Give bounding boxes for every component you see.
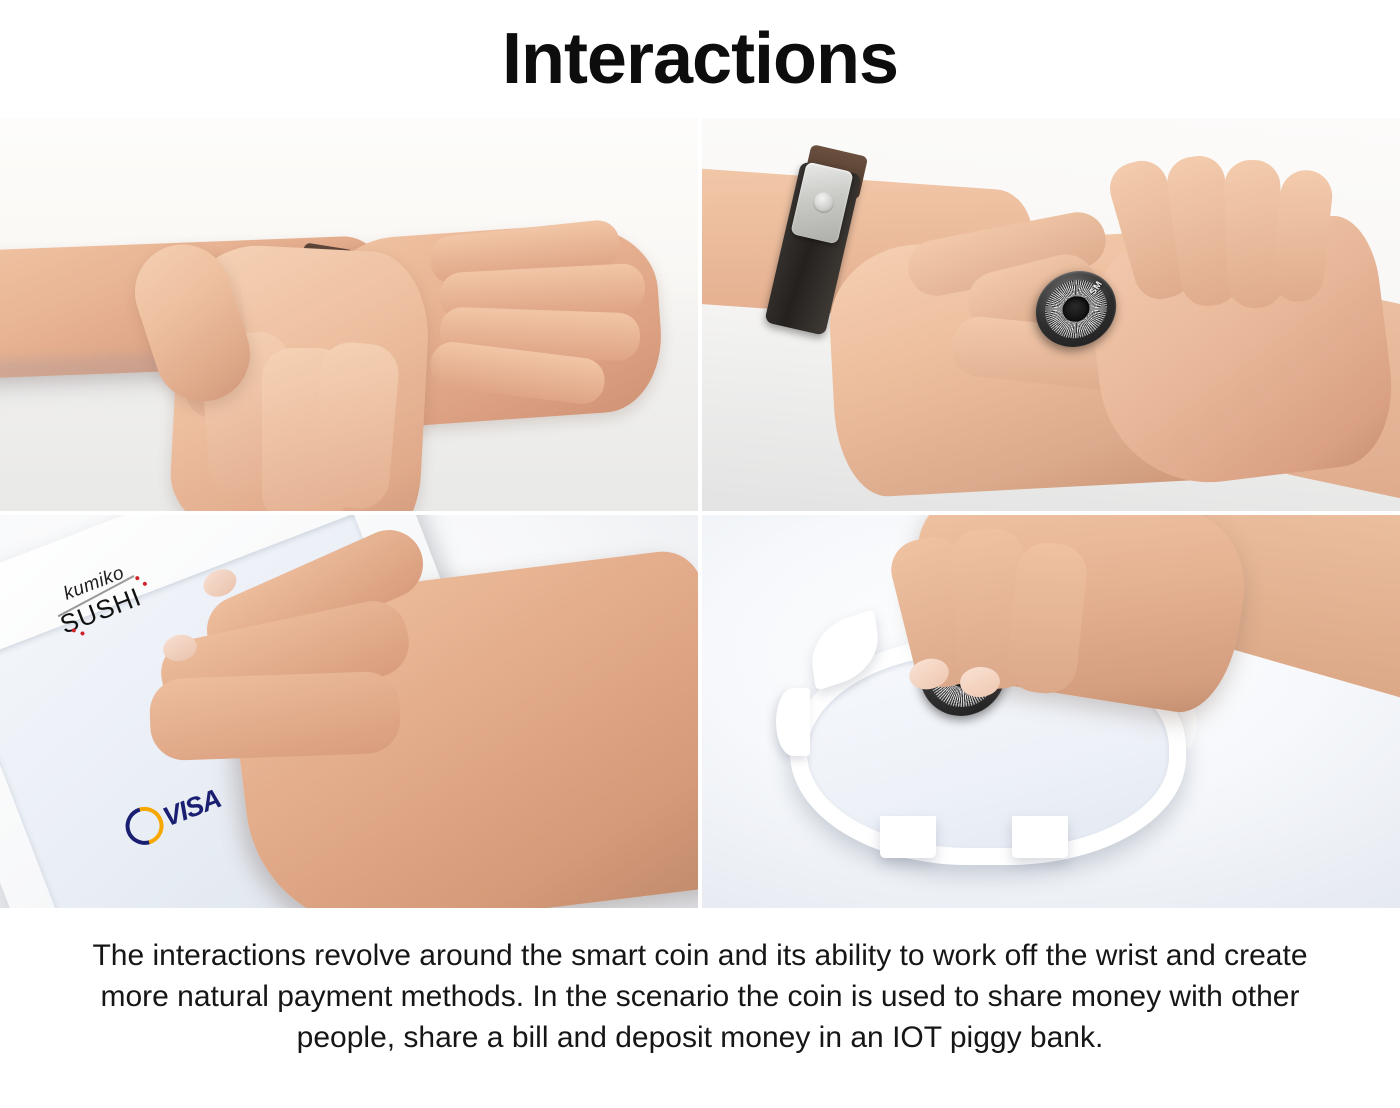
page-title: Interactions	[502, 18, 898, 100]
caption-block: The interactions revolve around the smar…	[0, 908, 1400, 1108]
photo-hand-over[interactable]: SM	[702, 118, 1400, 511]
photo-piggy-bank[interactable]	[702, 515, 1400, 908]
piggy-leg	[1012, 816, 1068, 858]
photo-grid: 10 SM	[0, 118, 1400, 908]
page-header: Interactions	[0, 0, 1400, 118]
piggy-leg	[880, 816, 936, 858]
finger	[149, 671, 402, 762]
photo-restaurant-bill[interactable]: kumiko SUSHI SM SM VISA	[0, 515, 698, 908]
photo-wrist-removal[interactable]: 10	[0, 118, 698, 511]
piggy-snout	[776, 688, 810, 756]
finger	[309, 340, 401, 511]
caption-text: The interactions revolve around the smar…	[75, 936, 1325, 1058]
